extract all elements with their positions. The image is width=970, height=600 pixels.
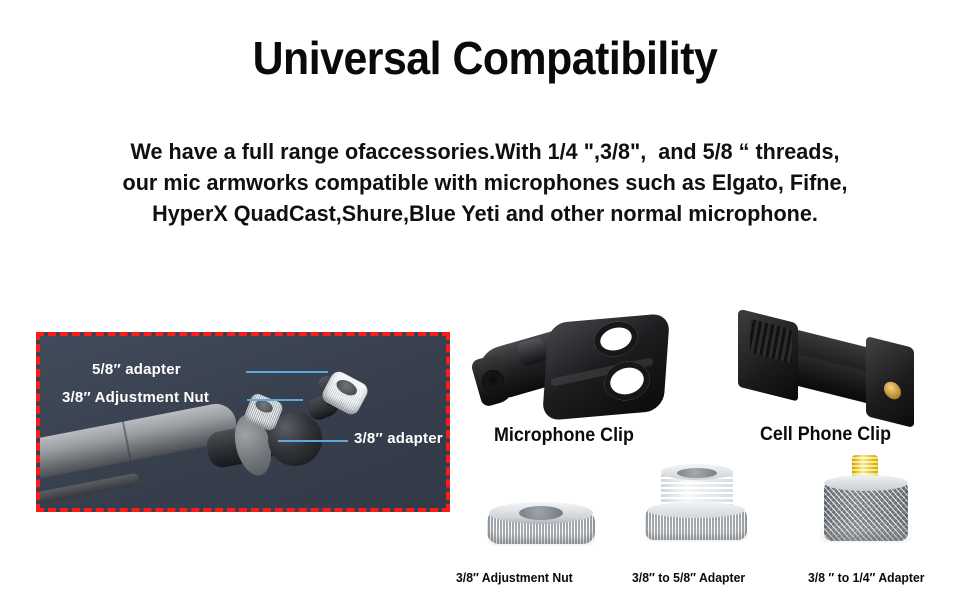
intro-line-3: HyperX QuadCast,Shure,Blue Yeti and othe…: [19, 198, 950, 229]
adapter-38-to-14-caption: 3/8 ″ to 1/4″ Adapter: [808, 570, 925, 585]
leader-line-58-adapter: [246, 371, 328, 373]
cell-phone-clip-image: [738, 312, 923, 427]
adapter-58-thread-hole: [677, 468, 717, 478]
cell-phone-clip-caption: Cell Phone Clip: [760, 424, 891, 446]
intro-line-2: our mic armworks compatible with microph…: [19, 167, 950, 198]
adapter-14-top-face: [824, 475, 908, 491]
microphone-clip-image: [476, 296, 676, 421]
adjustment-nut-reflection: [487, 524, 595, 546]
callout-38-adapter: 3/8″ adapter: [354, 430, 443, 447]
adapter-38-to-14-reflection: [820, 519, 912, 543]
adjustment-nut-thread-hole: [519, 506, 563, 520]
intro-paragraph: We have a full range ofaccessories.With …: [19, 136, 950, 229]
adapter-58-reflection-band: [645, 518, 747, 542]
page-title: Universal Compatibility: [34, 34, 936, 82]
callout-adjustment-nut: 3/8″ Adjustment Nut: [62, 389, 209, 406]
callout-58-adapter: 5/8″ adapter: [92, 361, 181, 378]
intro-line-1: We have a full range ofaccessories.With …: [19, 136, 950, 167]
adjustment-nut-caption: 3/8″ Adjustment Nut: [456, 570, 573, 585]
mic-arm-seam: [122, 421, 132, 461]
adapter-14-reflection-band: [820, 519, 912, 543]
exploded-view-panel: [36, 332, 450, 512]
leader-line-adjustment-nut: [247, 399, 303, 401]
adapter-38-to-58-caption: 3/8″ to 5/8″ Adapter: [632, 570, 745, 585]
microphone-clip-caption: Microphone Clip: [494, 425, 634, 447]
adapter-58-base-top: [647, 502, 745, 518]
leader-line-38-adapter: [278, 440, 348, 442]
adapter-38-to-58-reflection: [645, 518, 747, 542]
adjustment-nut-reflection-band: [487, 524, 595, 546]
